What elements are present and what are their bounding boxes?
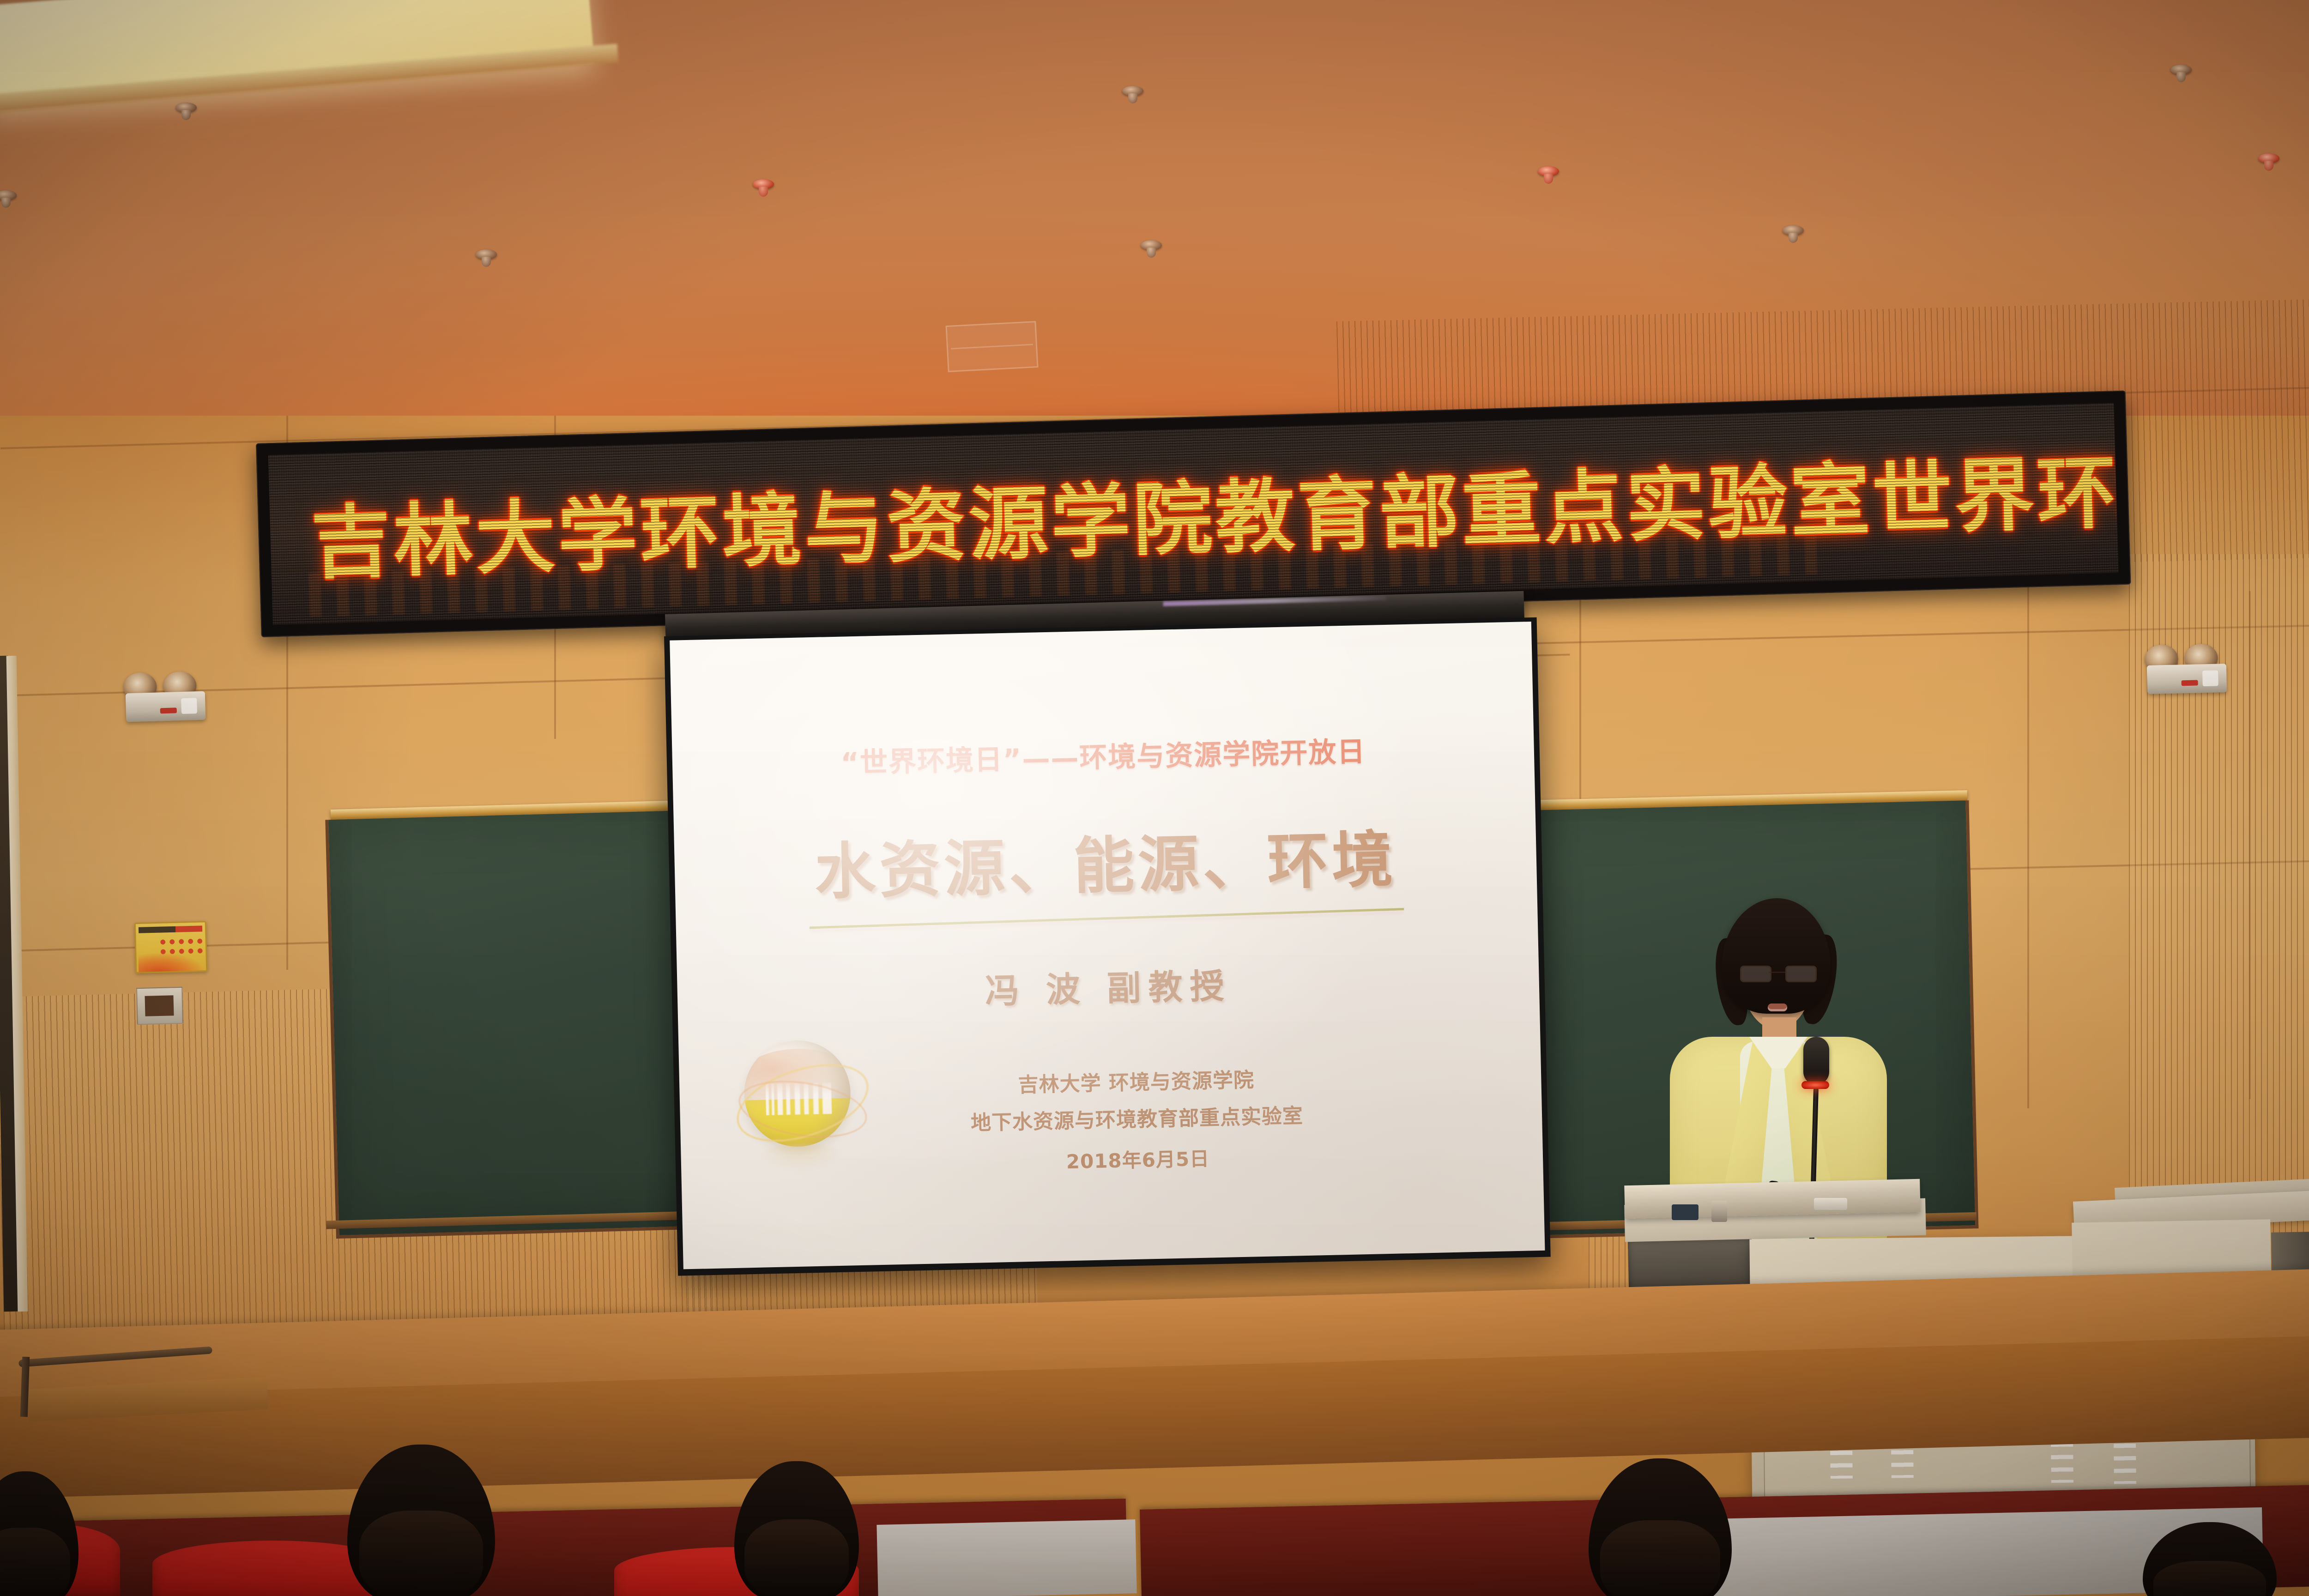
mouth: [1768, 1004, 1787, 1011]
hair-highlight: [2153, 1561, 2266, 1596]
sprinkler-icon: [0, 190, 17, 209]
microphone-capsule: [1803, 1037, 1829, 1085]
ceiling-vent: [945, 321, 1038, 372]
desk-small-object: [1814, 1198, 1847, 1210]
projector-screen-border: “世界环境日”——环境与资源学院开放日 水资源、能源、环境 冯 波 副教授 吉林…: [664, 617, 1551, 1276]
hair-highlight: [359, 1511, 484, 1596]
hair: [1722, 898, 1831, 1014]
slide-presenter-name: 冯 波 副教授: [677, 952, 1540, 1020]
emergency-light-left: [123, 671, 207, 724]
sprinkler-icon: [476, 249, 497, 268]
sprinkler-icon: [1141, 240, 1162, 259]
hair-highlight: [1600, 1520, 1720, 1596]
microphone-status-led: [1801, 1081, 1829, 1089]
glasses-icon: [1739, 966, 1816, 979]
sprinkler-icon: [175, 103, 197, 121]
sprinkler-icon: [1783, 225, 1804, 244]
sign-header-bar: [139, 925, 202, 933]
fire-safety-sign: [134, 921, 208, 973]
desk-remote: [1672, 1204, 1699, 1220]
projector-screen: “世界环境日”——环境与资源学院开放日 水资源、能源、环境 冯 波 副教授 吉林…: [670, 622, 1545, 1269]
lectern-desk-items: [1667, 1191, 1861, 1223]
emergency-light-right: [2145, 643, 2229, 696]
slide-affiliation-block: 吉林大学 环境与资源学院 地下水资源与环境教育部重点实验室 2018年6月5日: [765, 1056, 1509, 1186]
slide-title: 水资源、能源、环境: [674, 807, 1537, 914]
desk-cable-connector: [1711, 1201, 1727, 1222]
audience-head: [734, 1461, 859, 1596]
lecture-hall-photo: 吉林大学环境与资源学院教育部重点实验室世界环境日开放活动 “世界环境日”——环境…: [0, 0, 2309, 1596]
slide-subtitle: “世界环境日”——环境与资源学院开放日: [672, 725, 1534, 785]
emergency-light-body: [2147, 664, 2227, 694]
slide-divider-rule: [810, 908, 1404, 929]
smoke-detector-icon: [753, 179, 774, 198]
emergency-light-body: [126, 691, 206, 722]
sprinkler-icon: [1122, 86, 1143, 104]
sign-flame-graphic: [138, 952, 205, 973]
audience-desk-panel: [876, 1519, 1136, 1596]
smoke-detector-icon: [2258, 153, 2279, 172]
smoke-detector-icon: [1538, 166, 1559, 185]
hair-highlight: [744, 1519, 849, 1596]
wall-utility-box: [136, 987, 183, 1025]
sprinkler-icon: [2170, 65, 2192, 83]
hair-highlight: [0, 1528, 70, 1596]
